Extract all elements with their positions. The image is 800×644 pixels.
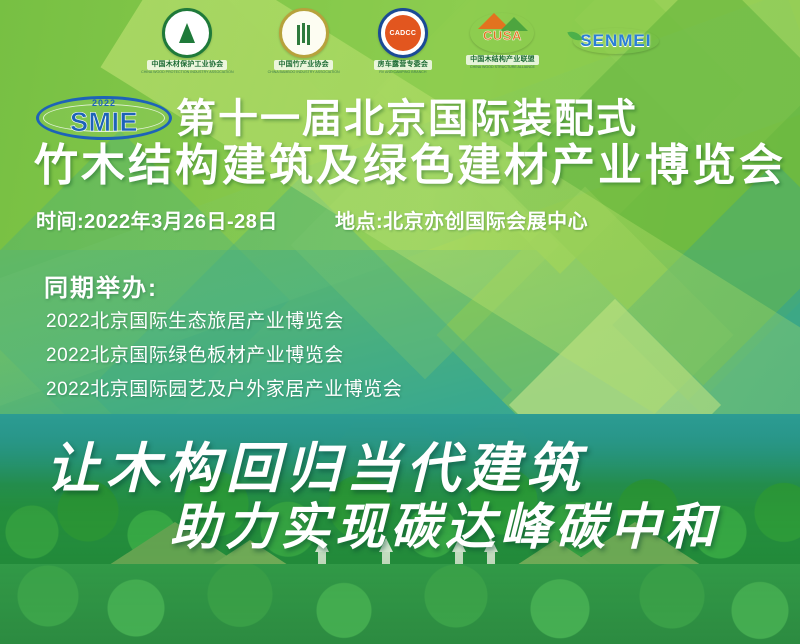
pine-tree-emblem-icon — [162, 8, 212, 58]
logo-china-wood-protection[interactable]: 中国木材保护工业协会 CHINA WOOD PROTECTION INDUSTR… — [141, 8, 233, 74]
bamboo-glyph — [302, 23, 305, 43]
logo-cadcc[interactable]: CADCC 房车露营专委会 RV AND CAMPING BRANCH — [374, 8, 432, 74]
cusa-acronym: CUSA — [474, 28, 530, 43]
cadcc-seal-icon: CADCC — [378, 8, 428, 58]
logo-subcaption: RV AND CAMPING BRANCH — [379, 70, 426, 74]
concurrent-event-item: 2022北京国际生态旅居产业博览会 — [46, 306, 344, 333]
logo-subcaption: CHINA WOOD STRUCTURE ALLIANCE — [470, 65, 535, 69]
slogan-line2: 助力实现碳达峰碳中和 — [170, 487, 720, 559]
logo-bamboo-association[interactable]: 中国竹产业协会 CHINA BAMBOO INDUSTRY ASSOCIATIO… — [268, 8, 340, 74]
smie-acronym: SMIE — [36, 107, 172, 138]
exhibition-poster: 中国木材保护工业协会 CHINA WOOD PROTECTION INDUSTR… — [0, 0, 800, 644]
logo-caption: 中国木材保护工业协会 — [147, 60, 227, 70]
logo-senmei[interactable]: SENMEI — [573, 28, 659, 54]
concurrent-event-item: 2022北京国际园艺及户外家居产业博览会 — [46, 374, 402, 401]
logo-subcaption: CHINA WOOD PROTECTION INDUSTRY ASSOCIATI… — [141, 70, 233, 74]
senmei-wordmark: SENMEI — [580, 31, 651, 51]
logo-subcaption: CHINA BAMBOO INDUSTRY ASSOCIATION — [268, 70, 340, 74]
concurrent-events-heading: 同期举办: — [44, 268, 158, 303]
logo-cwsa[interactable]: CUSA 中国木结构产业联盟 CHINA WOOD STRUCTURE ALLI… — [466, 13, 539, 69]
logo-caption: 房车露营专委会 — [374, 60, 432, 70]
logo-caption: 中国竹产业协会 — [274, 60, 332, 70]
house-roof-emblem-icon: CUSA — [470, 13, 534, 53]
leaf-wordmark-icon: SENMEI — [573, 28, 659, 54]
tree-glyph — [179, 23, 195, 43]
page-title-line2: 竹木结构建筑及绿色建材产业博览会 — [34, 142, 800, 190]
bamboo-emblem-icon — [279, 8, 329, 58]
event-date: 时间:2022年3月26日-28日 — [36, 205, 278, 234]
smie-logo: 2022 SMIE — [36, 96, 172, 140]
event-venue: 地点:北京亦创国际会展中心 — [335, 205, 588, 234]
organizer-logo-strip: 中国木材保护工业协会 CHINA WOOD PROTECTION INDUSTR… — [0, 8, 800, 74]
page-title-line1: 第十一届北京国际装配式 — [176, 97, 800, 141]
concurrent-event-item: 2022北京国际绿色板材产业博览会 — [46, 340, 344, 367]
cadcc-acronym: CADCC — [385, 15, 421, 51]
logo-caption: 中国木结构产业联盟 — [466, 55, 539, 65]
